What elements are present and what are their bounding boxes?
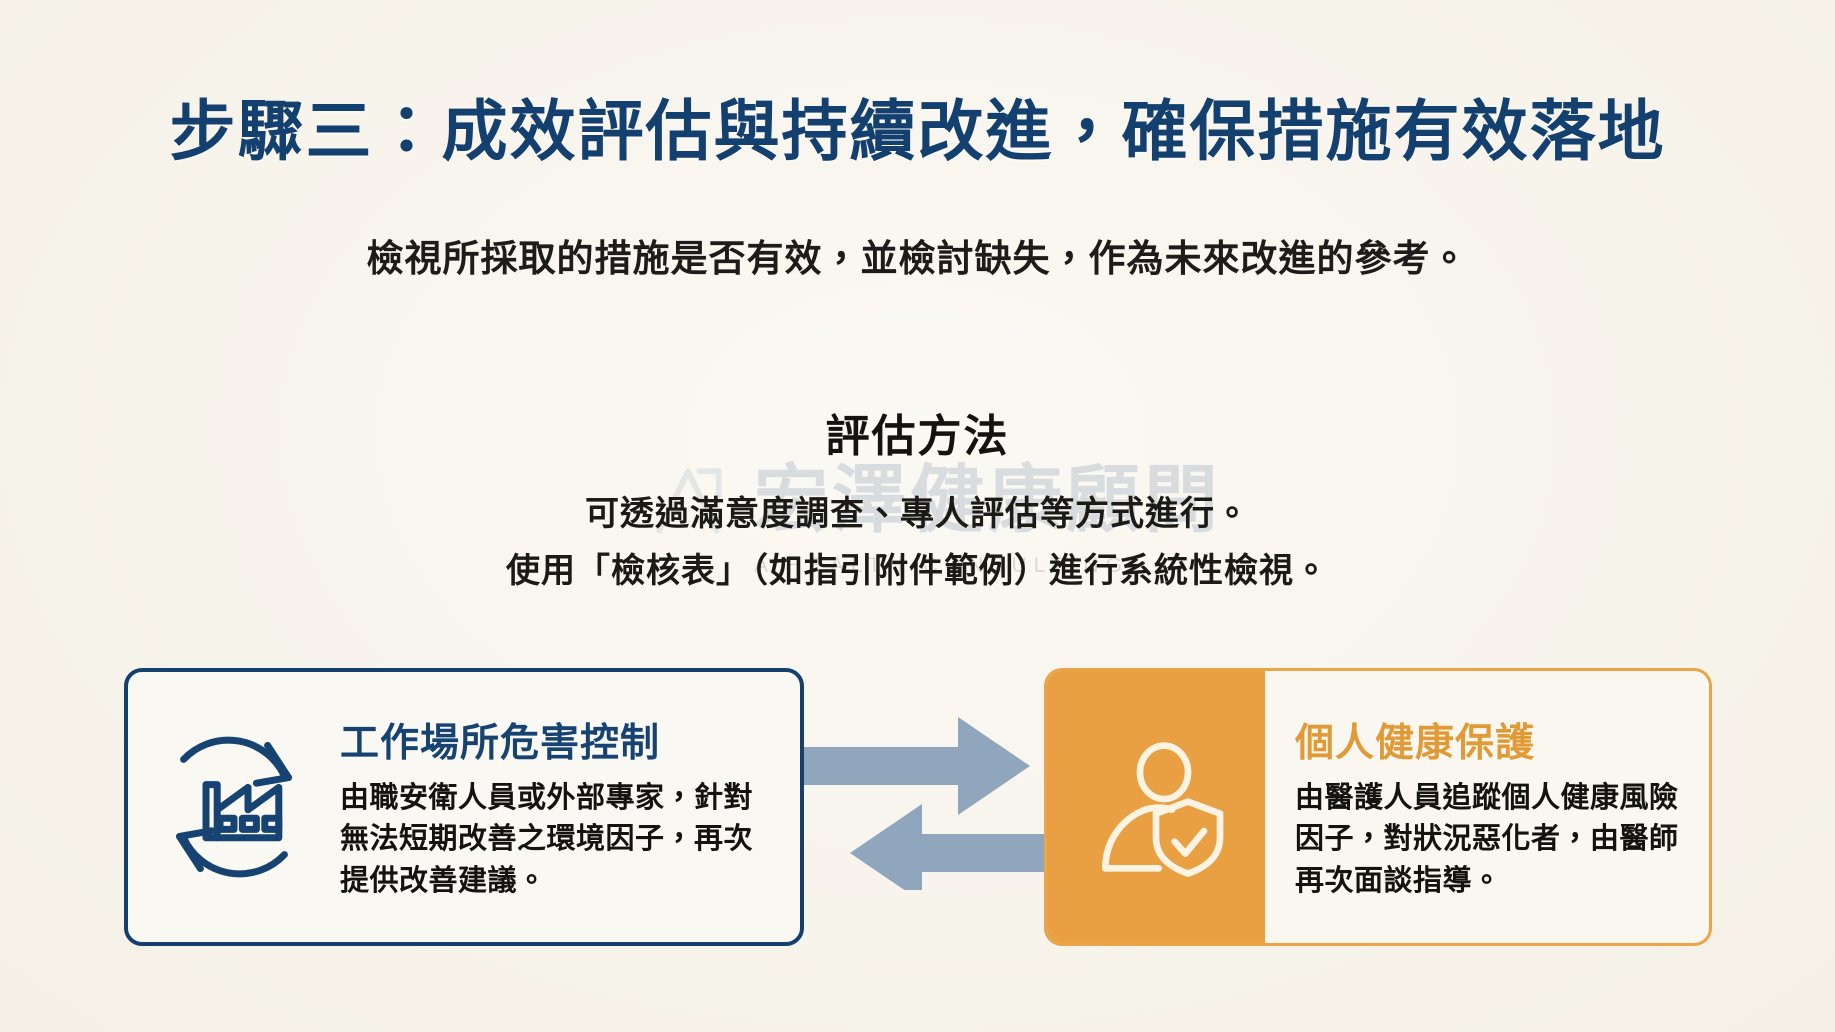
arrow-right-icon bbox=[790, 717, 1030, 815]
person-shield-check-icon bbox=[1047, 671, 1265, 943]
card-personal-health-protection[interactable]: 個人健康保護 由醫護人員追蹤個人健康風險因子，對狀況惡化者，由醫師再次面談指導。 bbox=[1044, 668, 1712, 946]
slide-root: 宏澤健康顧問 A HEALTH CONSULTING 步驟三：成效評估與持續改進… bbox=[0, 0, 1835, 1032]
factory-cycle-icon bbox=[128, 723, 340, 891]
card-heading: 工作場所危害控制 bbox=[340, 712, 774, 768]
page-title: 步驟三：成效評估與持續改進，確保措施有效落地 bbox=[0, 78, 1835, 174]
method-heading: 評估方法 bbox=[0, 400, 1835, 464]
method-line-2: 使用「檢核表」（如指引附件範例）進行系統性檢視。 bbox=[0, 543, 1835, 592]
card-body: 由職安衛人員或外部專家，針對無法短期改善之環境因子，再次提供改善建議。 bbox=[340, 778, 774, 902]
page-subtitle: 檢視所採取的措施是否有效，並檢討缺失，作為未來改進的參考。 bbox=[0, 228, 1835, 282]
card-body: 由醫護人員追蹤個人健康風險因子，對狀況惡化者，由醫師再次面談指導。 bbox=[1295, 778, 1685, 902]
card-text-wrap: 工作場所危害控制 由職安衛人員或外部專家，針對無法短期改善之環境因子，再次提供改… bbox=[340, 712, 800, 902]
card-heading: 個人健康保護 bbox=[1295, 712, 1685, 768]
method-line-1: 可透過滿意度調查、專人評估等方式進行。 bbox=[0, 486, 1835, 535]
card-workplace-hazard-control[interactable]: 工作場所危害控制 由職安衛人員或外部專家，針對無法短期改善之環境因子，再次提供改… bbox=[124, 668, 804, 946]
card-text-wrap: 個人健康保護 由醫護人員追蹤個人健康風險因子，對狀況惡化者，由醫師再次面談指導。 bbox=[1265, 671, 1709, 943]
